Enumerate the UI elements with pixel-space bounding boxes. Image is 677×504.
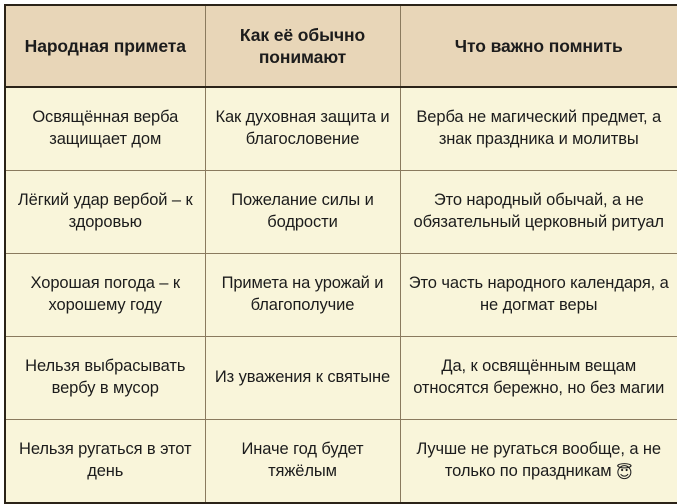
cell-understanding: Из уважения к святыне [205,336,400,419]
cell-important: Верба не магический предмет, а знак праз… [400,87,677,171]
cell-understanding-text: Иначе год будет тяжёлым [214,439,392,483]
cell-understanding-text: Из уважения к святыне [214,367,392,389]
table-row: Нельзя выбрасывать вербу в мусор Из уваж… [5,336,677,419]
emoji-icon: 😇 [616,463,633,482]
cell-important: Это часть народного календаря, а не догм… [400,254,677,337]
cell-primeta: Лёгкий удар вербой – к здоровью [5,171,205,254]
cell-understanding: Как духовная защита и благословение [205,87,400,171]
cell-primeta: Нельзя выбрасывать вербу в мусор [5,336,205,419]
cell-understanding: Примета на урожай и благополучие [205,254,400,337]
cell-important-text: Это народный обычай, а не обязательный ц… [414,191,664,231]
table-header: Народная примета Как её обычно понимают … [5,5,677,87]
cell-primeta: Освящённая верба защищает дом [5,87,205,171]
cell-understanding-text: Как духовная защита и благословение [214,107,392,151]
cell-understanding: Иначе год будет тяжёлым [205,419,400,503]
cell-important: Лучше не ругаться вообще, а не только по… [400,419,677,503]
cell-primeta-text: Хорошая погода – к хорошему году [14,273,197,317]
column-header-primeta: Народная примета [5,5,205,87]
table-container: Народная примета Как её обычно понимают … [0,0,677,504]
cell-understanding-text: Примета на урожай и благополучие [214,273,392,317]
cell-primeta: Хорошая погода – к хорошему году [5,254,205,337]
table-row: Освящённая верба защищает дом Как духовн… [5,87,677,171]
cell-primeta-text: Нельзя ругаться в этот день [14,439,197,483]
column-header-understanding: Как её обычно понимают [205,5,400,87]
table-header-row: Народная примета Как её обычно понимают … [5,5,677,87]
table-row: Лёгкий удар вербой – к здоровью Пожелани… [5,171,677,254]
cell-primeta-text: Освящённая верба защищает дом [14,107,197,151]
table-row: Хорошая погода – к хорошему году Примета… [5,254,677,337]
cell-important-text: Да, к освящённым вещам относятся бережно… [413,357,664,397]
cell-important: Это народный обычай, а не обязательный ц… [400,171,677,254]
cell-important: Да, к освящённым вещам относятся бережно… [400,336,677,419]
table-row: Нельзя ругаться в этот день Иначе год бу… [5,419,677,503]
cell-important-text: Верба не магический предмет, а знак праз… [416,108,661,148]
cell-primeta-text: Лёгкий удар вербой – к здоровью [14,190,197,234]
table-body: Освящённая верба защищает дом Как духовн… [5,87,677,503]
cell-primeta: Нельзя ругаться в этот день [5,419,205,503]
cell-primeta-text: Нельзя выбрасывать вербу в мусор [14,356,197,400]
cell-understanding: Пожелание силы и бодрости [205,171,400,254]
cell-understanding-text: Пожелание силы и бодрости [214,190,392,234]
cell-important-text: Это часть народного календаря, а не догм… [409,274,669,314]
column-header-important: Что важно помнить [400,5,677,87]
folk-omens-table: Народная примета Как её обычно понимают … [4,4,677,504]
